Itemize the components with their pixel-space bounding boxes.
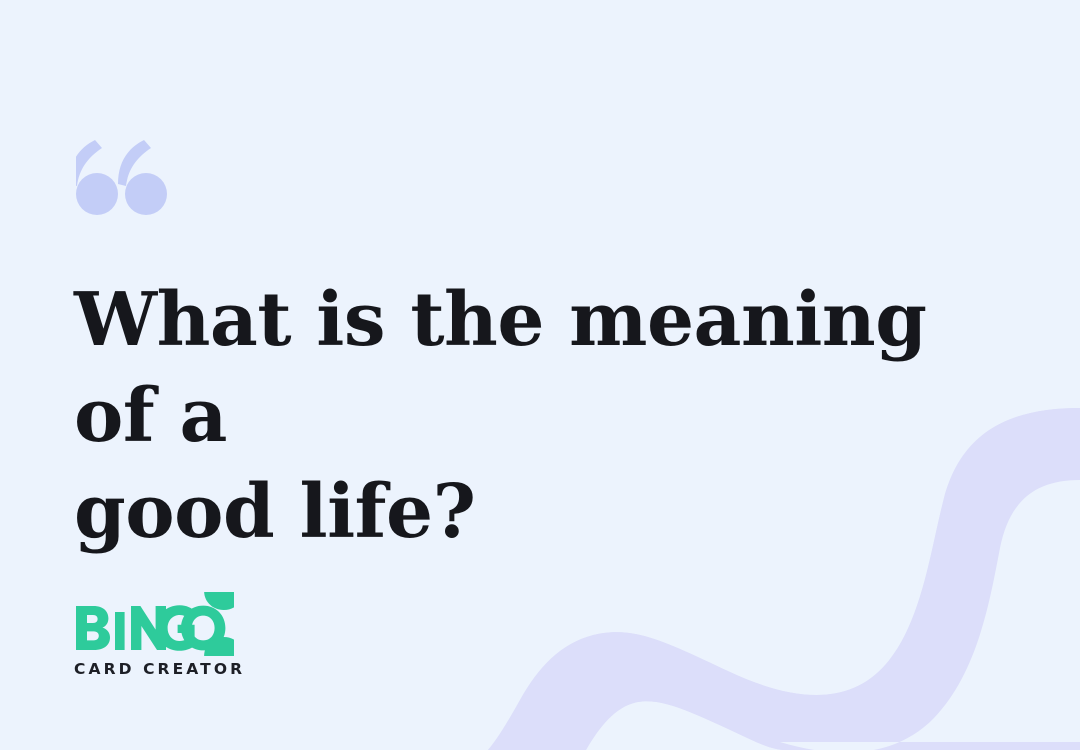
quote-card: What is the meaning of a good life? C	[0, 0, 1080, 750]
logo-tagline: CARD CREATOR	[74, 660, 245, 678]
brand-logo[interactable]: CARD CREATOR	[74, 592, 245, 678]
quote-open-icon	[76, 140, 172, 220]
bingo-logo-icon	[74, 592, 234, 656]
quote-text: What is the meaning of a good life?	[74, 272, 1004, 560]
